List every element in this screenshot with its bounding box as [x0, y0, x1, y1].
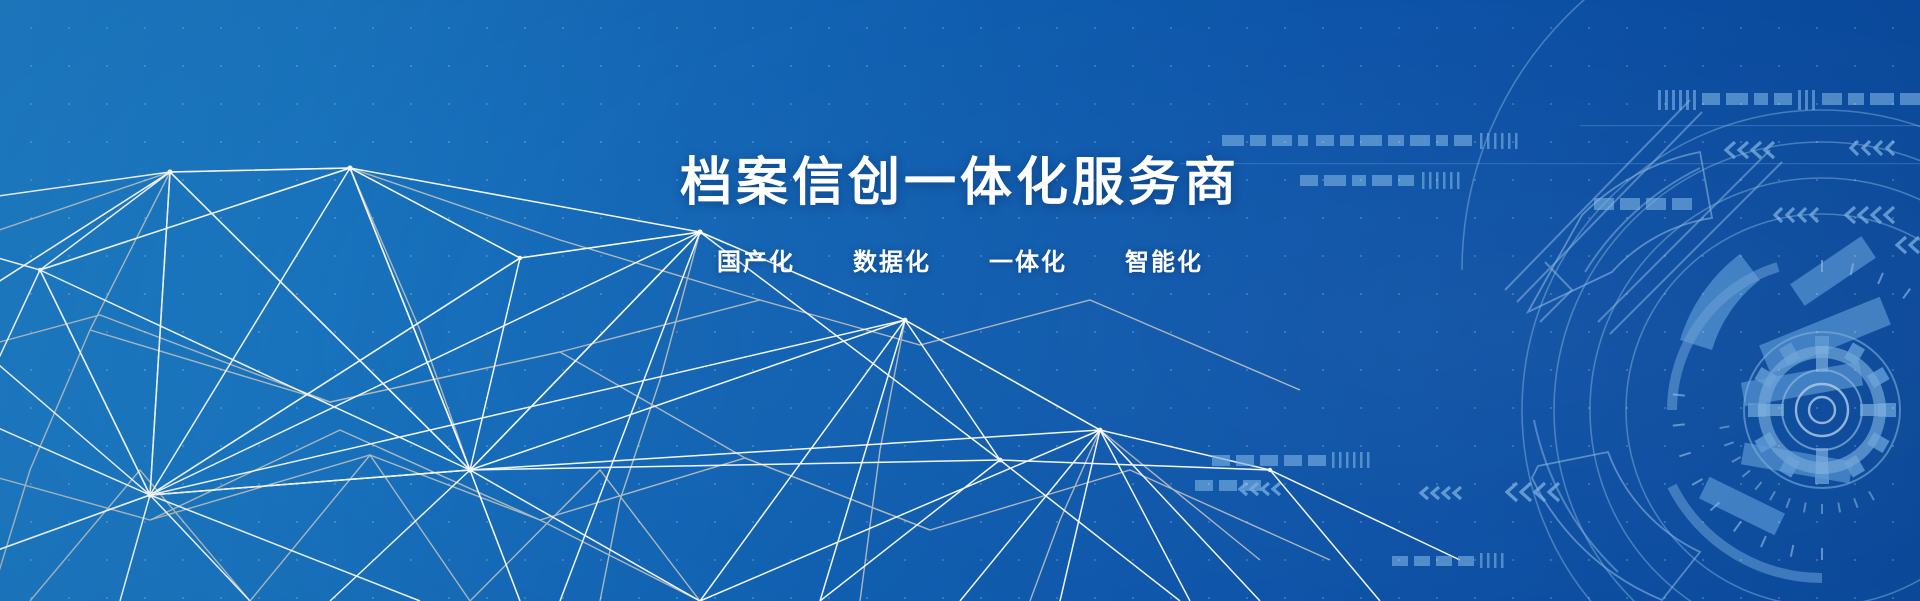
- hero-banner: 档案信创一体化服务商 国产化 数据化 一体化 智能化: [0, 0, 1920, 601]
- vignette-overlay: [0, 0, 1920, 601]
